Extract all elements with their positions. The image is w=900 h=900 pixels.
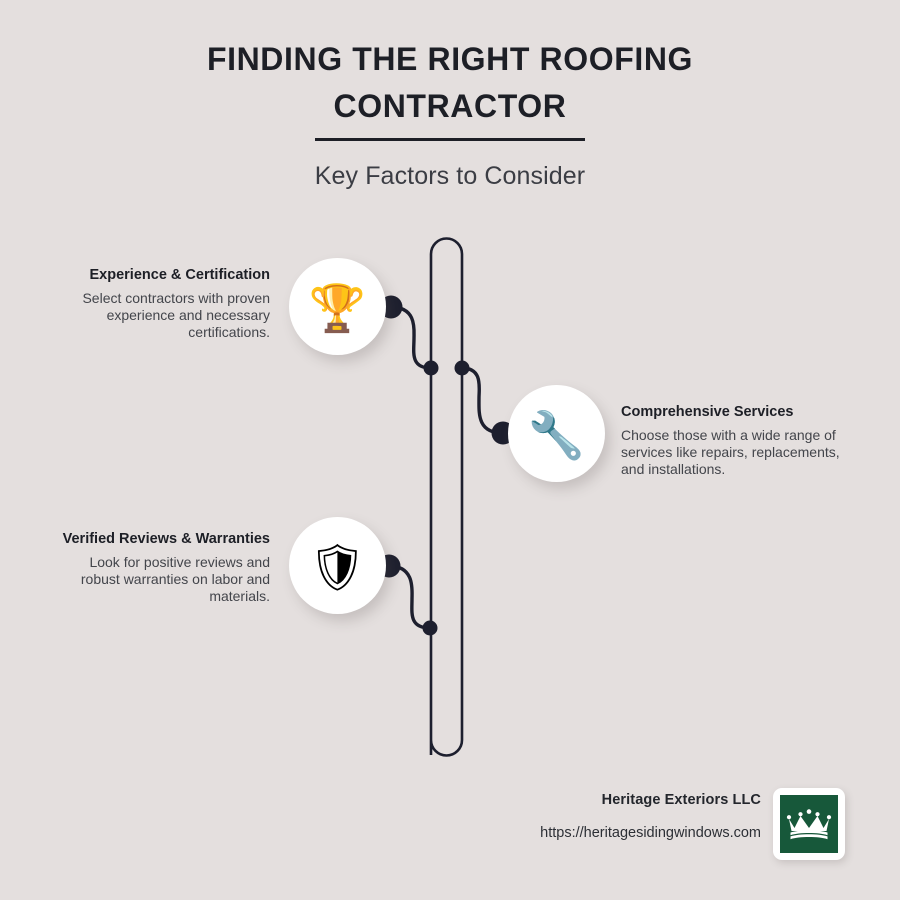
title-underline-divider <box>315 138 585 141</box>
branch-connector-2 <box>462 368 503 433</box>
icon-bubble-experience[interactable]: 🏆 <box>289 258 386 355</box>
branch-connector-3 <box>389 566 430 628</box>
spine-pill-outline <box>431 239 462 756</box>
step-block-services: Comprehensive Services Choose those with… <box>621 403 846 479</box>
icon-bubble-reviews[interactable]: 🛡 <box>289 517 386 614</box>
step-description: Choose those with a wide range of servic… <box>621 427 846 479</box>
brand-name: Heritage Exteriors LLC <box>471 792 761 808</box>
footer-text-group: Heritage Exteriors LLC https://heritages… <box>471 792 761 841</box>
page-subtitle: Key Factors to Consider <box>100 162 800 191</box>
footer-branding: Heritage Exteriors LLC https://heritages… <box>455 792 845 864</box>
spine-node-dot-3 <box>423 621 438 636</box>
step-description: Look for positive reviews and robust war… <box>55 554 270 606</box>
spine-node-dot-2 <box>455 361 470 376</box>
brand-logo-tile[interactable] <box>773 788 845 860</box>
shield-icon: 🛡 <box>308 544 366 590</box>
step-title: Comprehensive Services <box>621 403 846 422</box>
step-description: Select contractors with proven experienc… <box>55 290 270 342</box>
brand-logo-square <box>780 795 838 853</box>
header: FINDING THE RIGHT ROOFING CONTRACTOR Key… <box>100 36 800 191</box>
wrench-icon: 🔧 <box>528 412 585 458</box>
brand-website-url[interactable]: https://heritagesidingwindows.com <box>471 825 761 841</box>
page-title: FINDING THE RIGHT ROOFING CONTRACTOR <box>100 36 800 131</box>
infographic-canvas: FINDING THE RIGHT ROOFING CONTRACTOR Key… <box>0 0 900 900</box>
step-block-experience: Experience & Certification Select contra… <box>55 266 270 342</box>
branch-connector-1 <box>391 307 431 368</box>
step-title: Verified Reviews & Warranties <box>55 530 270 549</box>
step-block-reviews: Verified Reviews & Warranties Look for p… <box>55 530 270 606</box>
step-title: Experience & Certification <box>55 266 270 285</box>
spine-node-dot-1 <box>424 361 439 376</box>
icon-bubble-services[interactable]: 🔧 <box>508 385 605 482</box>
trophy-icon: 🏆 <box>309 285 366 331</box>
crown-icon <box>786 808 832 840</box>
